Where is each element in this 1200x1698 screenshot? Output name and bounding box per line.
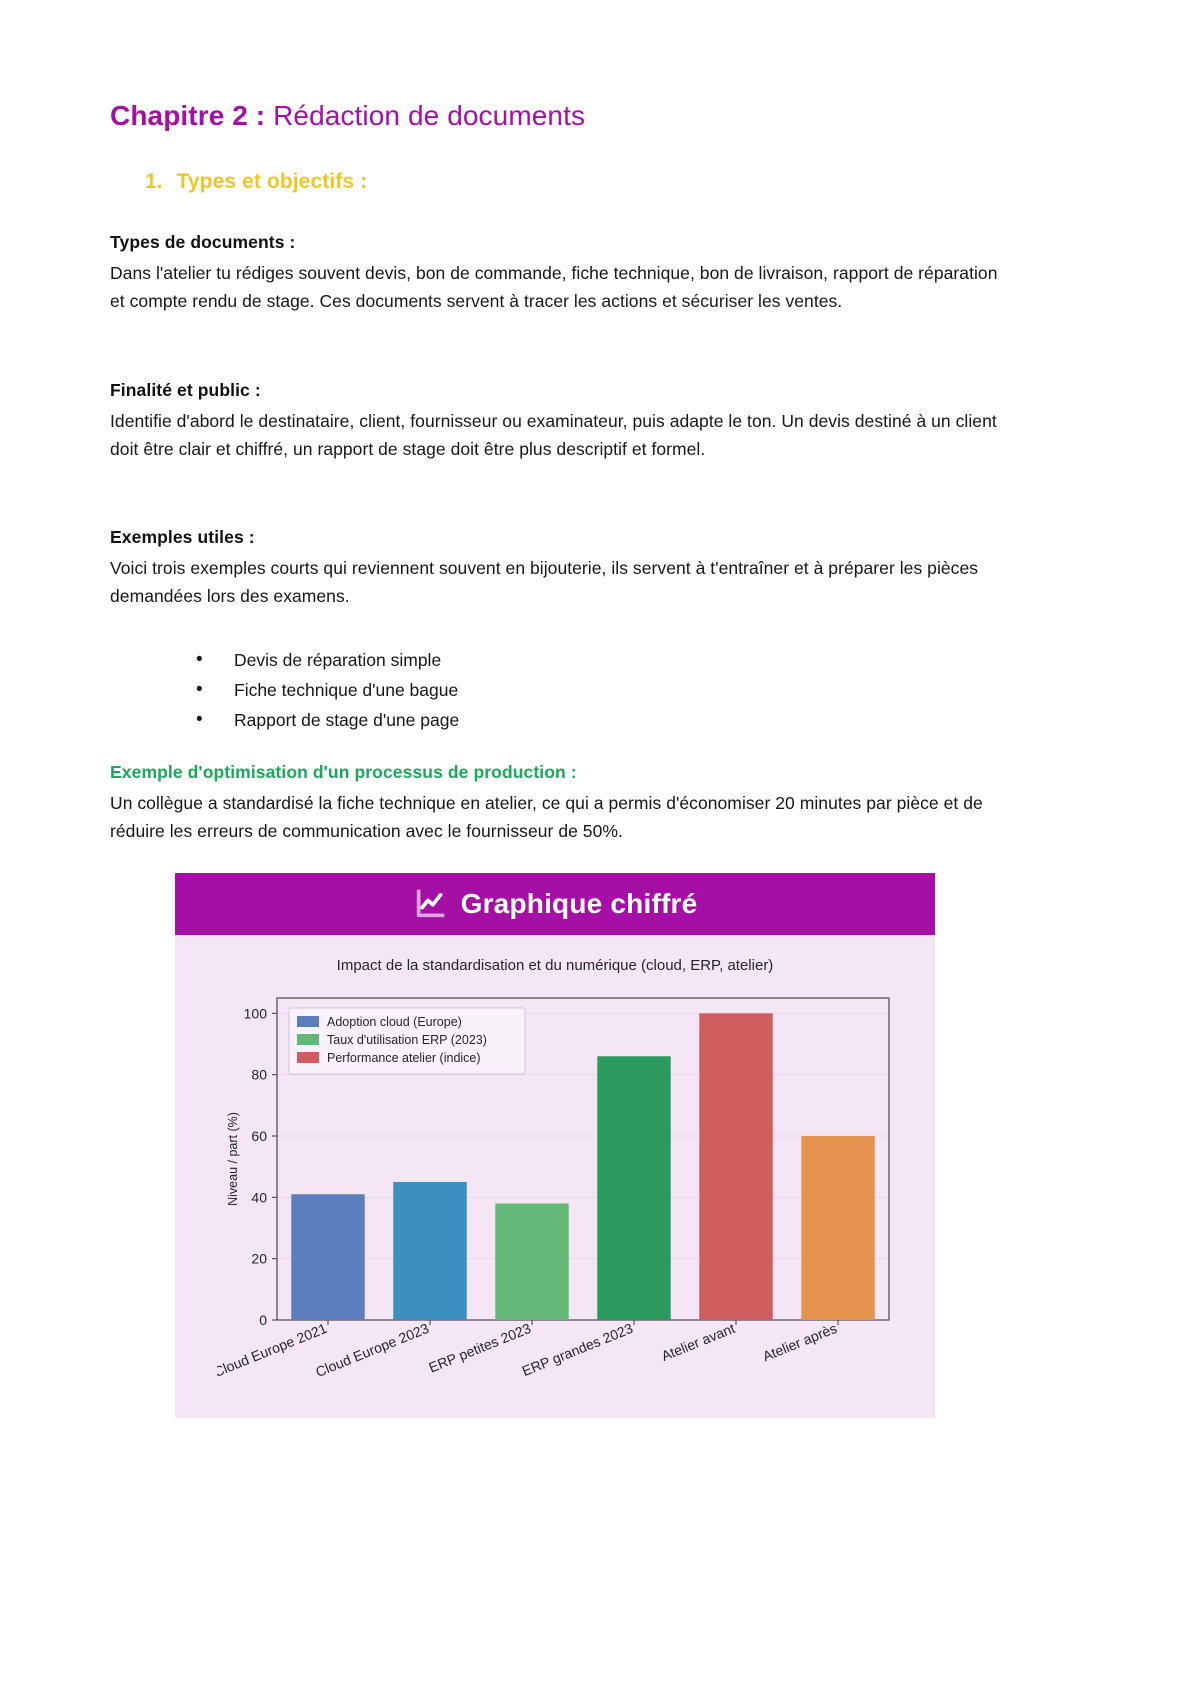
section-exemple-optimisation: Exemple d'optimisation d'un processus de… xyxy=(110,762,1005,846)
subsection-body: Un collègue a standardisé la fiche techn… xyxy=(110,789,1005,846)
y-tick-label: 0 xyxy=(259,1312,267,1328)
section-number: 1. xyxy=(145,170,163,194)
x-tick-label: ERP grandes 2023 xyxy=(520,1320,636,1379)
y-tick-label: 60 xyxy=(251,1128,267,1144)
bar-chart-svg: 020406080100 Cloud Europe 2021Cloud Euro… xyxy=(217,990,905,1385)
subsection-title: Types de documents : xyxy=(110,232,1005,253)
chart-card: Graphique chiffré Impact de la standardi… xyxy=(175,873,935,1418)
legend-label: Adoption cloud (Europe) xyxy=(327,1015,462,1029)
chart-y-axis-label: Niveau / part (%) xyxy=(226,1112,240,1206)
chart-y-axis: 020406080100 xyxy=(244,1005,277,1328)
chart-bar xyxy=(699,1013,772,1320)
document-page: Chapitre 2 : Rédaction de documents 1. T… xyxy=(0,0,1200,1698)
chart-title: Impact de la standardisation et du numér… xyxy=(175,957,935,974)
x-tick-label: Cloud Europe 2023 xyxy=(313,1320,431,1380)
list-item: Fiche technique d'une bague xyxy=(196,675,459,705)
subsection-body: Identifie d'abord le destinataire, clien… xyxy=(110,407,1005,464)
line-chart-icon xyxy=(413,887,447,921)
x-tick-label: Atelier après xyxy=(760,1320,839,1364)
legend-swatch xyxy=(297,1034,319,1045)
y-tick-label: 100 xyxy=(244,1005,268,1021)
legend-label: Taux d'utilisation ERP (2023) xyxy=(327,1033,487,1047)
section-label: Types et objectifs : xyxy=(177,170,368,194)
subsection-title: Finalité et public : xyxy=(110,380,1005,401)
legend-label: Performance atelier (indice) xyxy=(327,1051,481,1065)
y-tick-label: 40 xyxy=(251,1189,267,1205)
chapter-subject: Rédaction de documents xyxy=(265,100,585,131)
x-tick-label: Cloud Europe 2021 xyxy=(217,1320,329,1380)
y-tick-label: 80 xyxy=(251,1067,267,1083)
y-tick-label: 20 xyxy=(251,1251,267,1267)
chart-card-title: Graphique chiffré xyxy=(461,888,698,920)
chart-bar xyxy=(393,1182,466,1320)
chart-bar xyxy=(291,1194,364,1320)
section-types-de-documents: Types de documents : Dans l'atelier tu r… xyxy=(110,232,1005,316)
chart-bar xyxy=(597,1056,670,1320)
subsection-title: Exemples utiles : xyxy=(110,527,1005,548)
x-tick-label: ERP petites 2023 xyxy=(426,1320,533,1376)
subsection-body: Voici trois exemples courts qui revienne… xyxy=(110,554,1005,611)
chart-legend: Adoption cloud (Europe)Taux d'utilisatio… xyxy=(289,1008,525,1074)
list-item: Devis de réparation simple xyxy=(196,645,459,675)
chart-plot-area: 020406080100 Cloud Europe 2021Cloud Euro… xyxy=(217,990,905,1385)
legend-swatch xyxy=(297,1052,319,1063)
subsection-body: Dans l'atelier tu rédiges souvent devis,… xyxy=(110,259,1005,316)
section-exemples-utiles: Exemples utiles : Voici trois exemples c… xyxy=(110,527,1005,611)
chart-card-header: Graphique chiffré xyxy=(175,873,935,935)
legend-swatch xyxy=(297,1016,319,1027)
x-tick-label: Atelier avant xyxy=(659,1320,737,1364)
list-item: Rapport de stage d'une page xyxy=(196,705,459,735)
chart-bar xyxy=(801,1136,874,1320)
section-finalite-et-public: Finalité et public : Identifie d'abord l… xyxy=(110,380,1005,464)
subsection-title: Exemple d'optimisation d'un processus de… xyxy=(110,762,1005,783)
examples-bullet-list: Devis de réparation simple Fiche techniq… xyxy=(196,645,459,735)
section-heading: 1. Types et objectifs : xyxy=(145,170,367,194)
page-title: Chapitre 2 : Rédaction de documents xyxy=(110,98,585,133)
chart-x-axis: Cloud Europe 2021Cloud Europe 2023ERP pe… xyxy=(217,1320,839,1380)
chart-bar xyxy=(495,1203,568,1320)
chapter-label: Chapitre 2 : xyxy=(110,100,265,131)
